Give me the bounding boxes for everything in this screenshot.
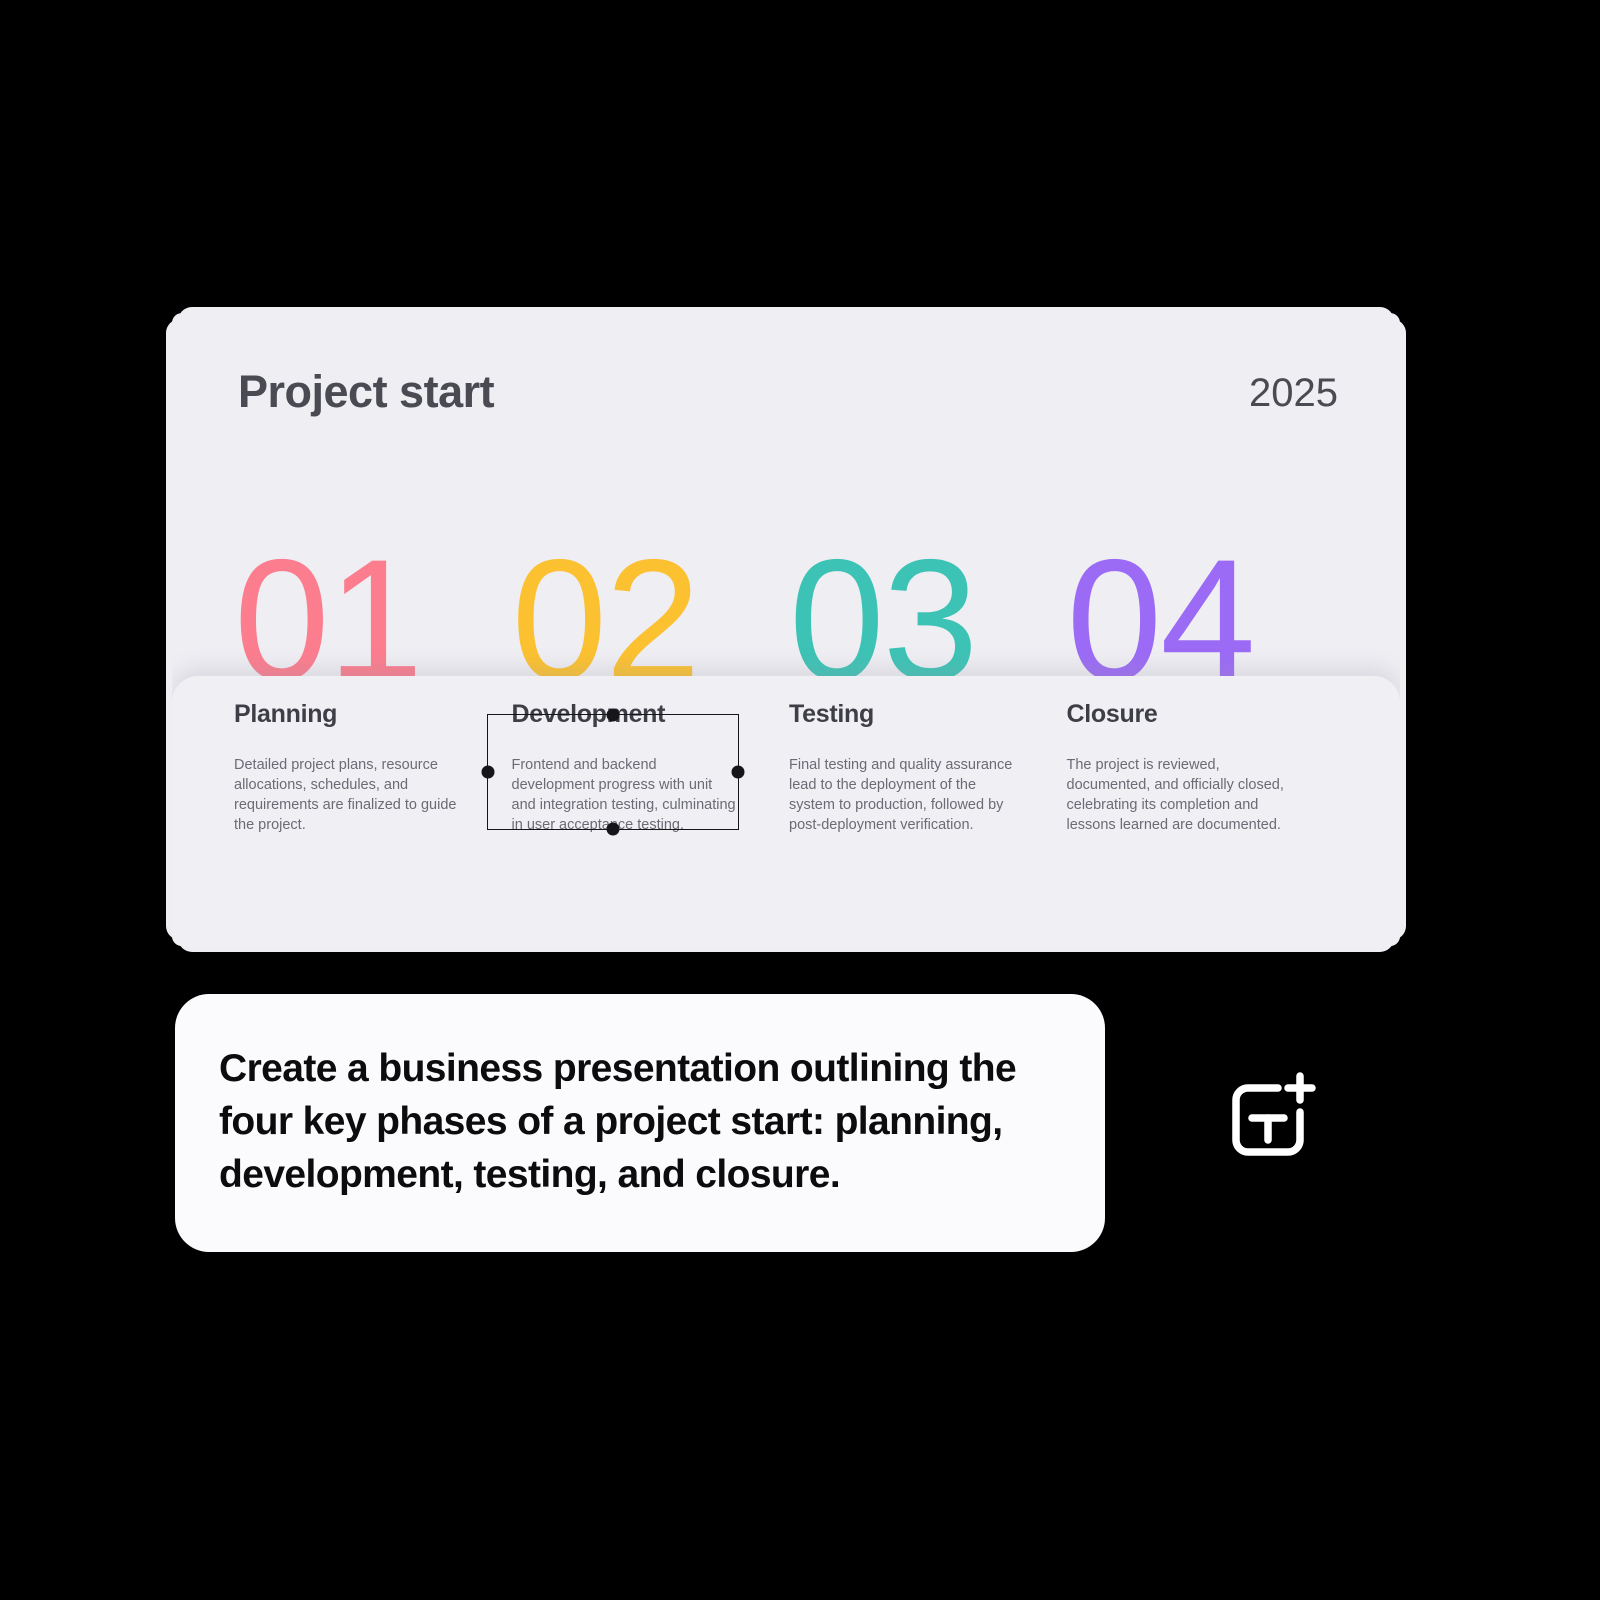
phase-details-panel: Planning Detailed project plans, resourc…	[172, 676, 1400, 946]
phase-title-testing[interactable]: Testing	[789, 702, 1067, 727]
add-text-box-glyph	[1222, 1068, 1318, 1164]
phase-column-planning[interactable]: Planning Detailed project plans, resourc…	[234, 702, 512, 835]
phase-title-development[interactable]: Development	[512, 702, 790, 727]
phase-body-testing[interactable]: Final testing and quality assurance lead…	[789, 755, 1014, 835]
slide-year[interactable]: 2025	[1249, 373, 1338, 413]
prompt-card[interactable]: Create a business presentation outlining…	[175, 994, 1105, 1252]
phase-columns: Planning Detailed project plans, resourc…	[234, 702, 1344, 835]
phase-column-closure[interactable]: Closure The project is reviewed, documen…	[1067, 702, 1345, 835]
phase-body-planning[interactable]: Detailed project plans, resource allocat…	[234, 755, 459, 835]
prompt-text[interactable]: Create a business presentation outlining…	[219, 1042, 1049, 1201]
phase-body-closure[interactable]: The project is reviewed, documented, and…	[1067, 755, 1292, 835]
slide-title[interactable]: Project start	[238, 369, 494, 414]
presentation-slide-stage[interactable]: Project start 2025 01 02 03 04 Planning …	[166, 307, 1406, 952]
add-text-box-icon[interactable]	[1222, 1068, 1318, 1164]
phase-column-testing[interactable]: Testing Final testing and quality assura…	[789, 702, 1067, 835]
phase-title-closure[interactable]: Closure	[1067, 702, 1345, 727]
phase-body-development[interactable]: Frontend and backend development progres…	[512, 755, 737, 835]
phase-title-planning[interactable]: Planning	[234, 702, 512, 727]
phase-column-development[interactable]: Development Frontend and backend develop…	[512, 702, 790, 835]
presentation-slide[interactable]: Project start 2025 01 02 03 04 Planning …	[172, 313, 1400, 946]
